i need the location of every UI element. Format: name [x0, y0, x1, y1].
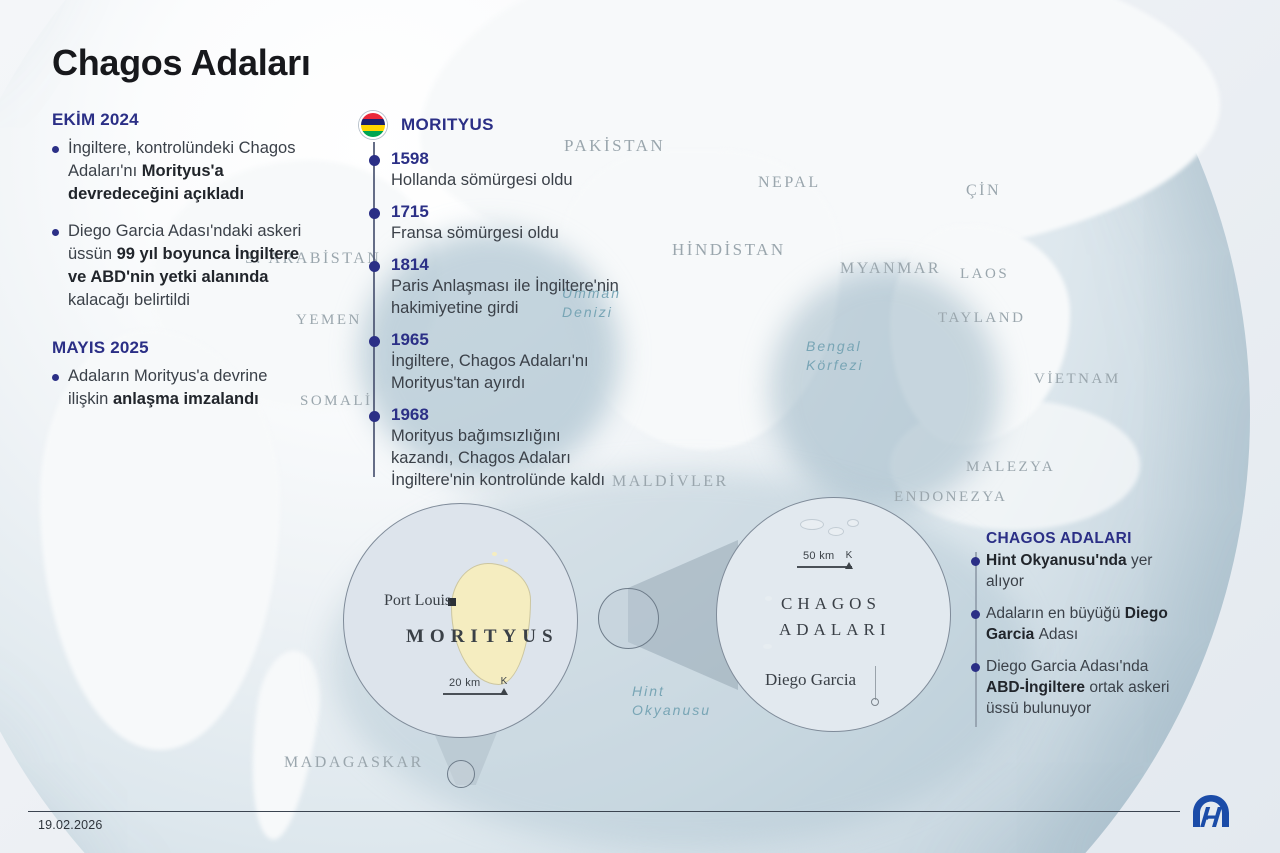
- list-item: Hint Okyanusu'nda yer alıyor: [968, 550, 1183, 592]
- island-speck: [504, 559, 508, 562]
- footer-divider: [28, 811, 1180, 812]
- emphasis-text: Hint Okyanusu'nda: [986, 552, 1131, 569]
- timeline-header: MORITYUS: [367, 110, 627, 140]
- list-item: İngiltere, kontrolündeki Chagos Adaları'…: [52, 137, 307, 206]
- scale-bar-chagos: 50 km: [797, 566, 852, 568]
- map-label-malezya: MALEZYA: [966, 459, 1055, 476]
- timeline-event-year: 1598: [391, 148, 627, 169]
- atoll-speck: [848, 520, 858, 526]
- timeline-event-dot: [369, 336, 380, 347]
- sea-label-line: Körfezi: [806, 356, 864, 375]
- plain-text: Adaların en büyüğü: [986, 605, 1125, 622]
- map-label-maldivler: MALDİVLER: [612, 473, 729, 491]
- inset-map-chagos: 50 km K CHAGOS ADALARI Diego Garcia: [716, 497, 951, 732]
- list-item: Adaların en büyüğü Diego Garcia Adası: [968, 603, 1183, 645]
- diego-garcia-leader-line: [875, 666, 876, 700]
- bullet-dot: [52, 146, 59, 153]
- timeline-event-description: Fransa sömürgesi oldu: [391, 222, 627, 244]
- region-label-chagos-line2: ADALARI: [779, 620, 891, 640]
- region-label-morityus: MORITYUS: [406, 626, 559, 648]
- plain-text: kalacağı belirtildi: [68, 291, 190, 309]
- footer-date: 19.02.2026: [38, 818, 103, 832]
- timeline-event: 1598Hollanda sömürgesi oldu: [367, 148, 627, 191]
- timeline-event: 1965İngiltere, Chagos Adaları'nı Morityu…: [367, 329, 627, 394]
- sea-label-hint-okyanusu: HintOkyanusu: [632, 682, 711, 720]
- bullet-dot: [52, 229, 59, 236]
- sea-label-bengal-korfezi: BengalKörfezi: [806, 337, 864, 375]
- anadolu-agency-logo: [1190, 793, 1232, 831]
- timeline-event: 1715Fransa sömürgesi oldu: [367, 201, 627, 244]
- scale-bar-label: 20 km: [449, 677, 480, 689]
- sea-label-line: Hint: [632, 682, 711, 701]
- emphasis-text: anlaşma imzalandı: [113, 390, 259, 408]
- flag-stripe-3: [361, 131, 385, 137]
- plain-text: Diego Garcia Adası'nda: [986, 658, 1148, 675]
- mauritius-flag-icon: [359, 111, 387, 139]
- timeline-event-description: Paris Anlaşması ile İngiltere'nin hakimi…: [391, 275, 627, 319]
- section-heading: EKİM 2024: [52, 110, 307, 130]
- island-speck: [492, 552, 497, 556]
- bullet-dot: [971, 557, 980, 566]
- bullet-text: Diego Garcia Adası'ndaki askeri üssün 99…: [68, 220, 307, 312]
- list-item: Diego Garcia Adası'nda ABD-İngiltere ort…: [968, 656, 1183, 719]
- scale-bar-line: [797, 566, 852, 568]
- north-arrow-label: K: [500, 676, 508, 687]
- island-label-diego-garcia: Diego Garcia: [765, 670, 856, 690]
- infographic-canvas: Chagos Adaları PAKİSTANNEPALÇİNHİNDİSTAN…: [0, 0, 1280, 853]
- timeline-event-dot: [369, 411, 380, 422]
- section-mayis-2025: MAYIS 2025 Adaların Morityus'a devrine i…: [52, 338, 307, 411]
- atoll-speck: [801, 520, 823, 529]
- bullet-dot: [971, 610, 980, 619]
- locator-circle-chagos: [598, 588, 659, 649]
- map-label-laos: LAOS: [960, 266, 1009, 283]
- timeline-event-year: 1814: [391, 254, 627, 275]
- north-arrow-chagos: K: [845, 550, 853, 569]
- bullet-text: Diego Garcia Adası'nda ABD-İngiltere ort…: [986, 658, 1169, 717]
- timeline-event-dot: [369, 208, 380, 219]
- timeline-event-dot: [369, 261, 380, 272]
- page-title: Chagos Adaları: [52, 42, 311, 84]
- section-heading: MAYIS 2025: [52, 338, 307, 358]
- inset-map-mauritius: Port Louis MORITYUS 20 km K: [343, 503, 578, 738]
- emphasis-text: ABD-İngiltere: [986, 679, 1089, 696]
- scale-bar-line: [443, 693, 505, 695]
- plain-text: Adası: [1039, 626, 1079, 643]
- north-arrow-triangle: [500, 688, 508, 695]
- bullet-text: Adaların en büyüğü Diego Garcia Adası: [986, 605, 1168, 643]
- bullet-text: İngiltere, kontrolündeki Chagos Adaları'…: [68, 137, 307, 206]
- map-label-cin: ÇİN: [966, 182, 1001, 200]
- timeline-event-description: Morityus bağımsızlığını kazandı, Chagos …: [391, 425, 627, 491]
- timeline-event-description: Hollanda sömürgesi oldu: [391, 169, 627, 191]
- map-label-endonezya: ENDONEZYA: [894, 489, 1007, 506]
- list-item: Diego Garcia Adası'ndaki askeri üssün 99…: [52, 220, 307, 312]
- timeline-event: 1968Morityus bağımsızlığını kazandı, Cha…: [367, 404, 627, 491]
- map-label-somali: SOMALİ: [300, 393, 373, 410]
- locator-circle-mauritius: [447, 760, 475, 788]
- timeline-country-label: MORITYUS: [401, 115, 494, 135]
- atoll-speck: [763, 644, 772, 649]
- right-info-panel: CHAGOS ADALARI Hint Okyanusu'nda yer alı…: [968, 530, 1183, 730]
- map-label-madagaskar: MADAGASKAR: [284, 754, 424, 772]
- city-label-port-louis: Port Louis: [384, 592, 451, 610]
- map-label-tayland: TAYLAND: [938, 310, 1025, 327]
- bullet-text: Adaların Morityus'a devrine ilişkin anla…: [68, 365, 307, 411]
- scale-bar-mauritius: 20 km: [443, 693, 505, 695]
- north-arrow-triangle: [845, 562, 853, 569]
- timeline-event: 1814Paris Anlaşması ile İngiltere'nin ha…: [367, 254, 627, 319]
- section-ekim-2024: EKİM 2024 İngiltere, kontrolündeki Chago…: [52, 110, 307, 312]
- atoll-speck: [765, 596, 772, 601]
- map-label-hindistan: HİNDİSTAN: [672, 240, 786, 260]
- north-arrow-label: K: [845, 550, 853, 561]
- bullet-dot: [971, 663, 980, 672]
- diego-garcia-atoll-marker: [871, 698, 879, 706]
- mauritius-island-shape: [452, 564, 530, 684]
- scale-bar-label: 50 km: [803, 550, 834, 562]
- timeline-event-year: 1965: [391, 329, 627, 350]
- left-info-panel: EKİM 2024 İngiltere, kontrolündeki Chago…: [52, 110, 307, 425]
- bullet-text: Hint Okyanusu'nda yer alıyor: [986, 552, 1152, 590]
- map-label-nepal: NEPAL: [758, 174, 821, 192]
- atoll-speck: [829, 528, 843, 535]
- timeline-event-year: 1715: [391, 201, 627, 222]
- timeline-event-dot: [369, 155, 380, 166]
- timeline-event-year: 1968: [391, 404, 627, 425]
- north-arrow-mauritius: K: [500, 676, 508, 695]
- sea-label-line: Okyanusu: [632, 701, 711, 720]
- timeline-event-list: 1598Hollanda sömürgesi oldu1715Fransa sö…: [367, 148, 627, 491]
- map-label-myanmar: MYANMAR: [840, 260, 941, 278]
- list-item: Adaların Morityus'a devrine ilişkin anla…: [52, 365, 307, 411]
- timeline-event-description: İngiltere, Chagos Adaları'nı Morityus'ta…: [391, 350, 627, 394]
- map-label-vietnam: VİETNAM: [1034, 371, 1121, 388]
- bullet-dot: [52, 374, 59, 381]
- right-panel-heading: CHAGOS ADALARI: [986, 530, 1183, 548]
- sea-label-line: Bengal: [806, 337, 864, 356]
- region-label-chagos-line1: CHAGOS: [781, 594, 881, 614]
- timeline: MORITYUS 1598Hollanda sömürgesi oldu1715…: [367, 110, 627, 501]
